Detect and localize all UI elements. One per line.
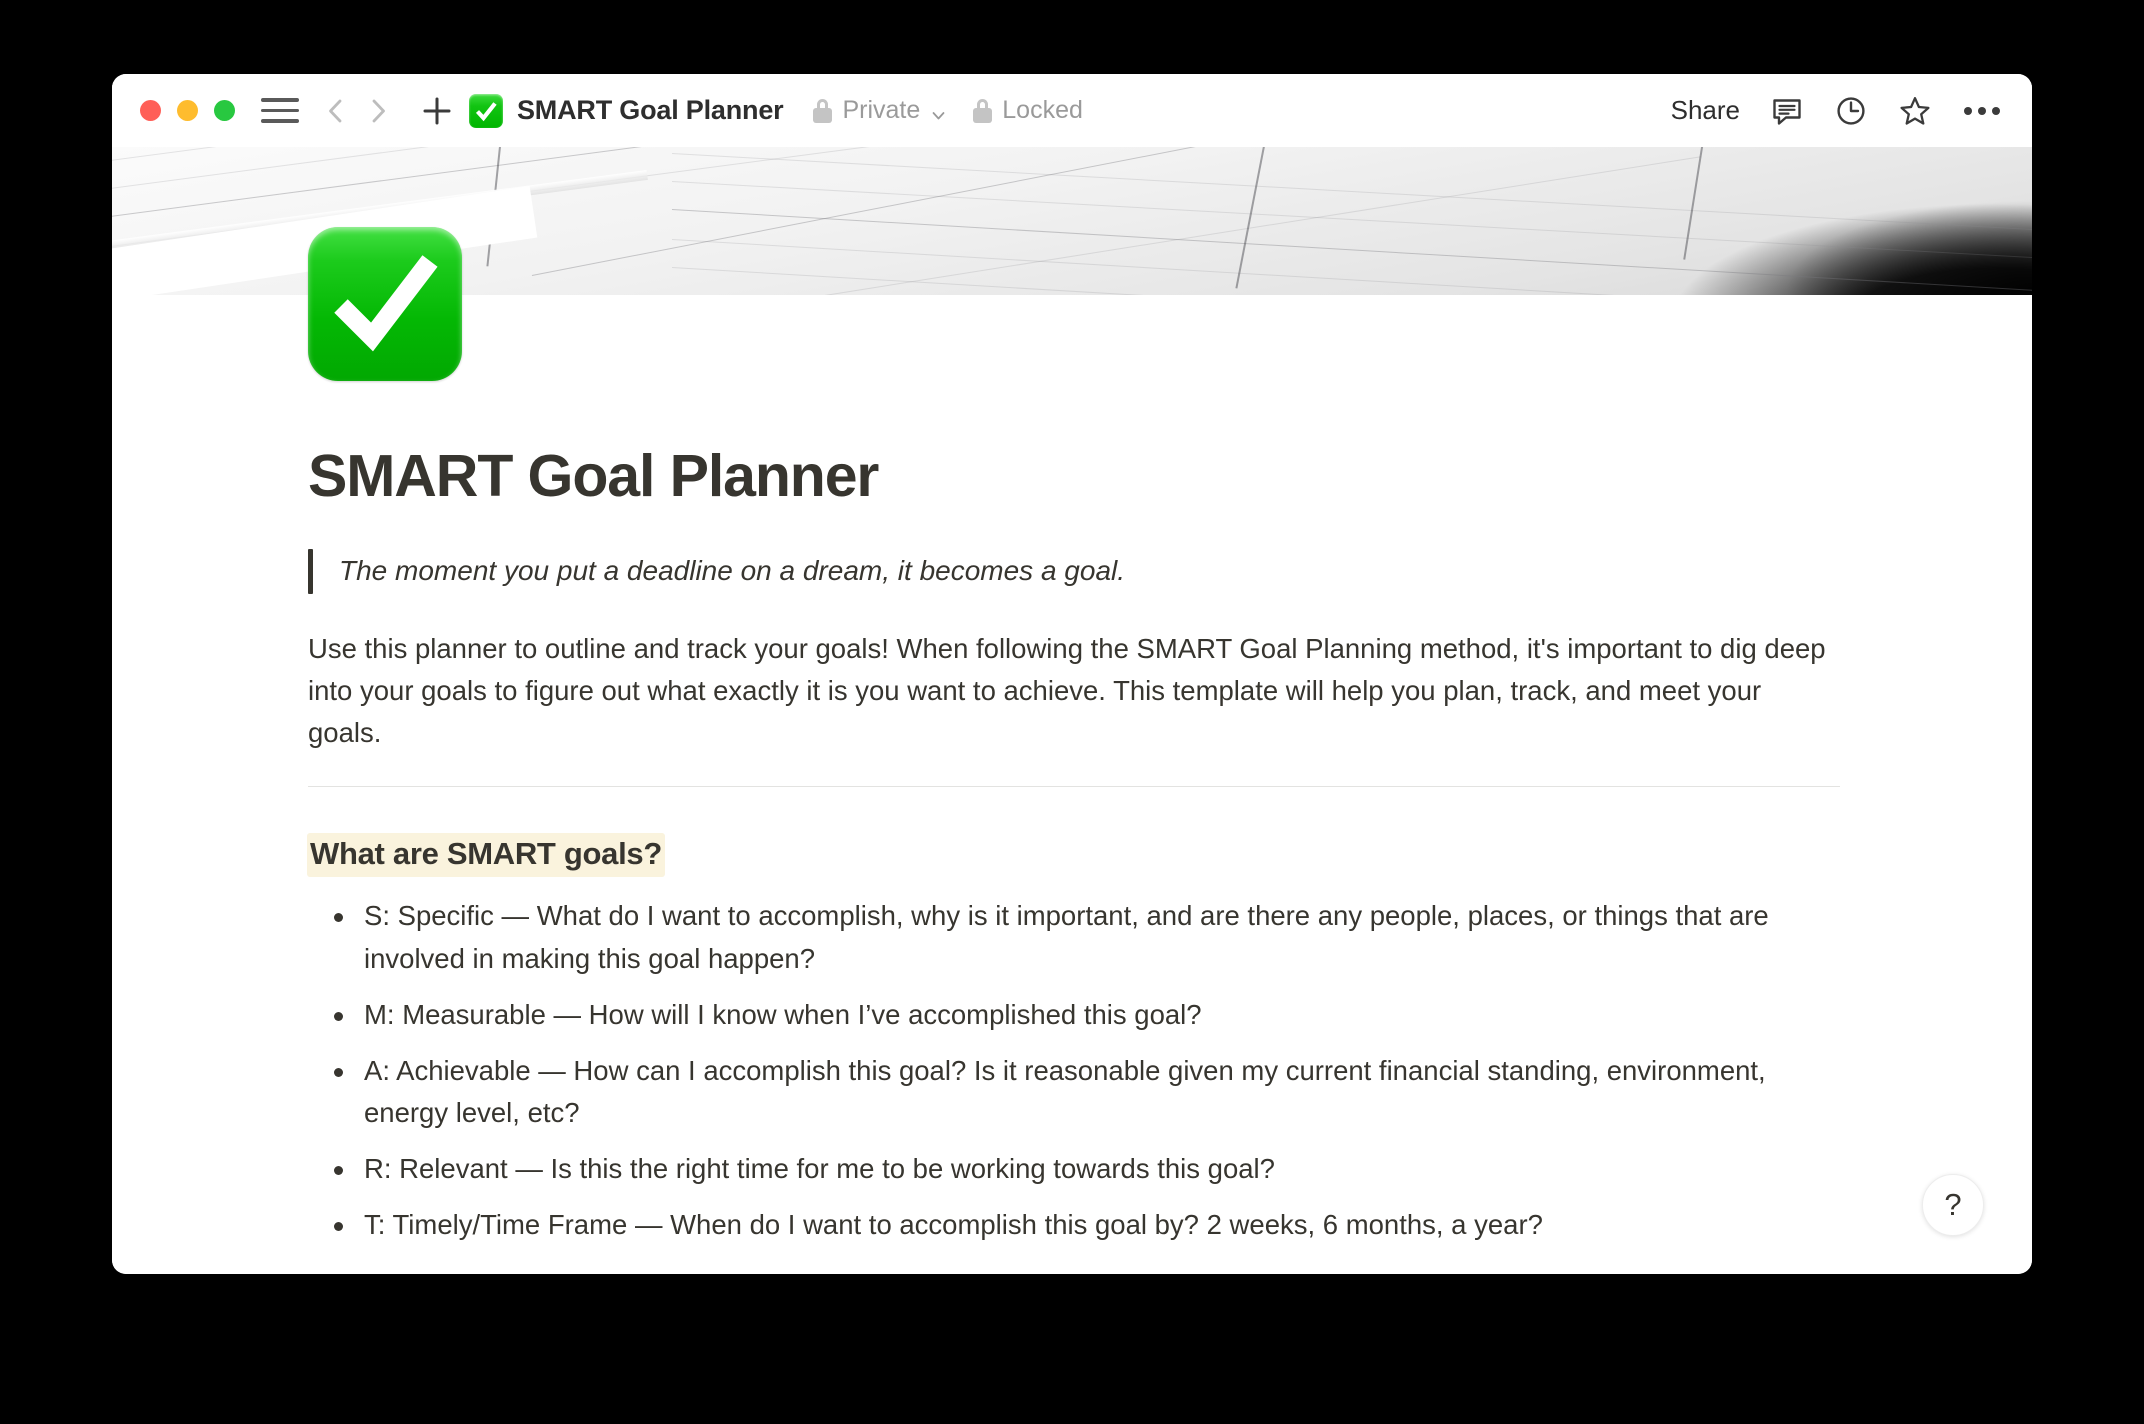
window-controls <box>140 100 235 121</box>
clock-history-icon[interactable] <box>1834 94 1868 128</box>
locked-status[interactable]: Locked <box>973 96 1083 125</box>
lock-icon <box>813 99 832 123</box>
comment-bubble-icon[interactable] <box>1770 94 1804 128</box>
minimize-button[interactable] <box>177 100 198 121</box>
page-title[interactable]: SMART Goal Planner <box>308 443 1840 509</box>
chevron-down-icon <box>930 102 947 119</box>
smart-goals-list: S: Specific — What do I want to accompli… <box>308 895 1840 1245</box>
list-item[interactable]: R: Relevant — Is this the right time for… <box>308 1148 1840 1190</box>
share-button[interactable]: Share <box>1671 95 1740 126</box>
section-divider <box>308 786 1840 788</box>
title-bar: SMART Goal Planner Private Locked <box>112 74 2032 147</box>
page-white-check-mark-emoji[interactable] <box>308 227 462 381</box>
list-item[interactable]: A: Achievable — How can I accomplish thi… <box>308 1050 1840 1134</box>
screen: SMART Goal Planner Private Locked <box>0 0 2144 1424</box>
intro-paragraph[interactable]: Use this planner to outline and track yo… <box>308 628 1838 754</box>
chevron-left-icon[interactable] <box>319 94 353 128</box>
page-body: SMART Goal Planner The moment you put a … <box>112 295 2032 1274</box>
page-content: SMART Goal Planner The moment you put a … <box>308 443 1840 1260</box>
blockquote-bar <box>308 549 313 594</box>
star-icon[interactable] <box>1898 94 1932 128</box>
section-heading-wrap: What are SMART goals? <box>308 833 1840 895</box>
lock-icon <box>973 99 992 123</box>
blockquote-text: The moment you put a deadline on a dream… <box>339 549 1125 594</box>
chevron-right-icon[interactable] <box>361 94 395 128</box>
ellipsis-icon[interactable] <box>1962 107 2002 115</box>
list-item[interactable]: M: Measurable — How will I know when I’v… <box>308 994 1840 1036</box>
list-item[interactable]: S: Specific — What do I want to accompli… <box>308 895 1840 979</box>
close-button[interactable] <box>140 100 161 121</box>
locked-label: Locked <box>1002 96 1083 125</box>
list-item[interactable]: T: Timely/Time Frame — When do I want to… <box>308 1204 1840 1246</box>
window-title[interactable]: SMART Goal Planner <box>517 95 783 126</box>
section-heading[interactable]: What are SMART goals? <box>307 833 665 877</box>
maximize-button[interactable] <box>214 100 235 121</box>
titlebar-actions: Share <box>1671 94 2002 128</box>
blockquote[interactable]: The moment you put a deadline on a dream… <box>308 549 1840 594</box>
plus-icon[interactable] <box>417 91 457 131</box>
help-button[interactable]: ? <box>1922 1174 1984 1236</box>
privacy-selector[interactable]: Private <box>813 96 947 125</box>
app-window: SMART Goal Planner Private Locked <box>112 74 2032 1274</box>
privacy-label: Private <box>842 96 920 125</box>
hamburger-menu-icon[interactable] <box>261 96 299 126</box>
titlebar-white-check-mark-emoji[interactable] <box>469 94 503 128</box>
